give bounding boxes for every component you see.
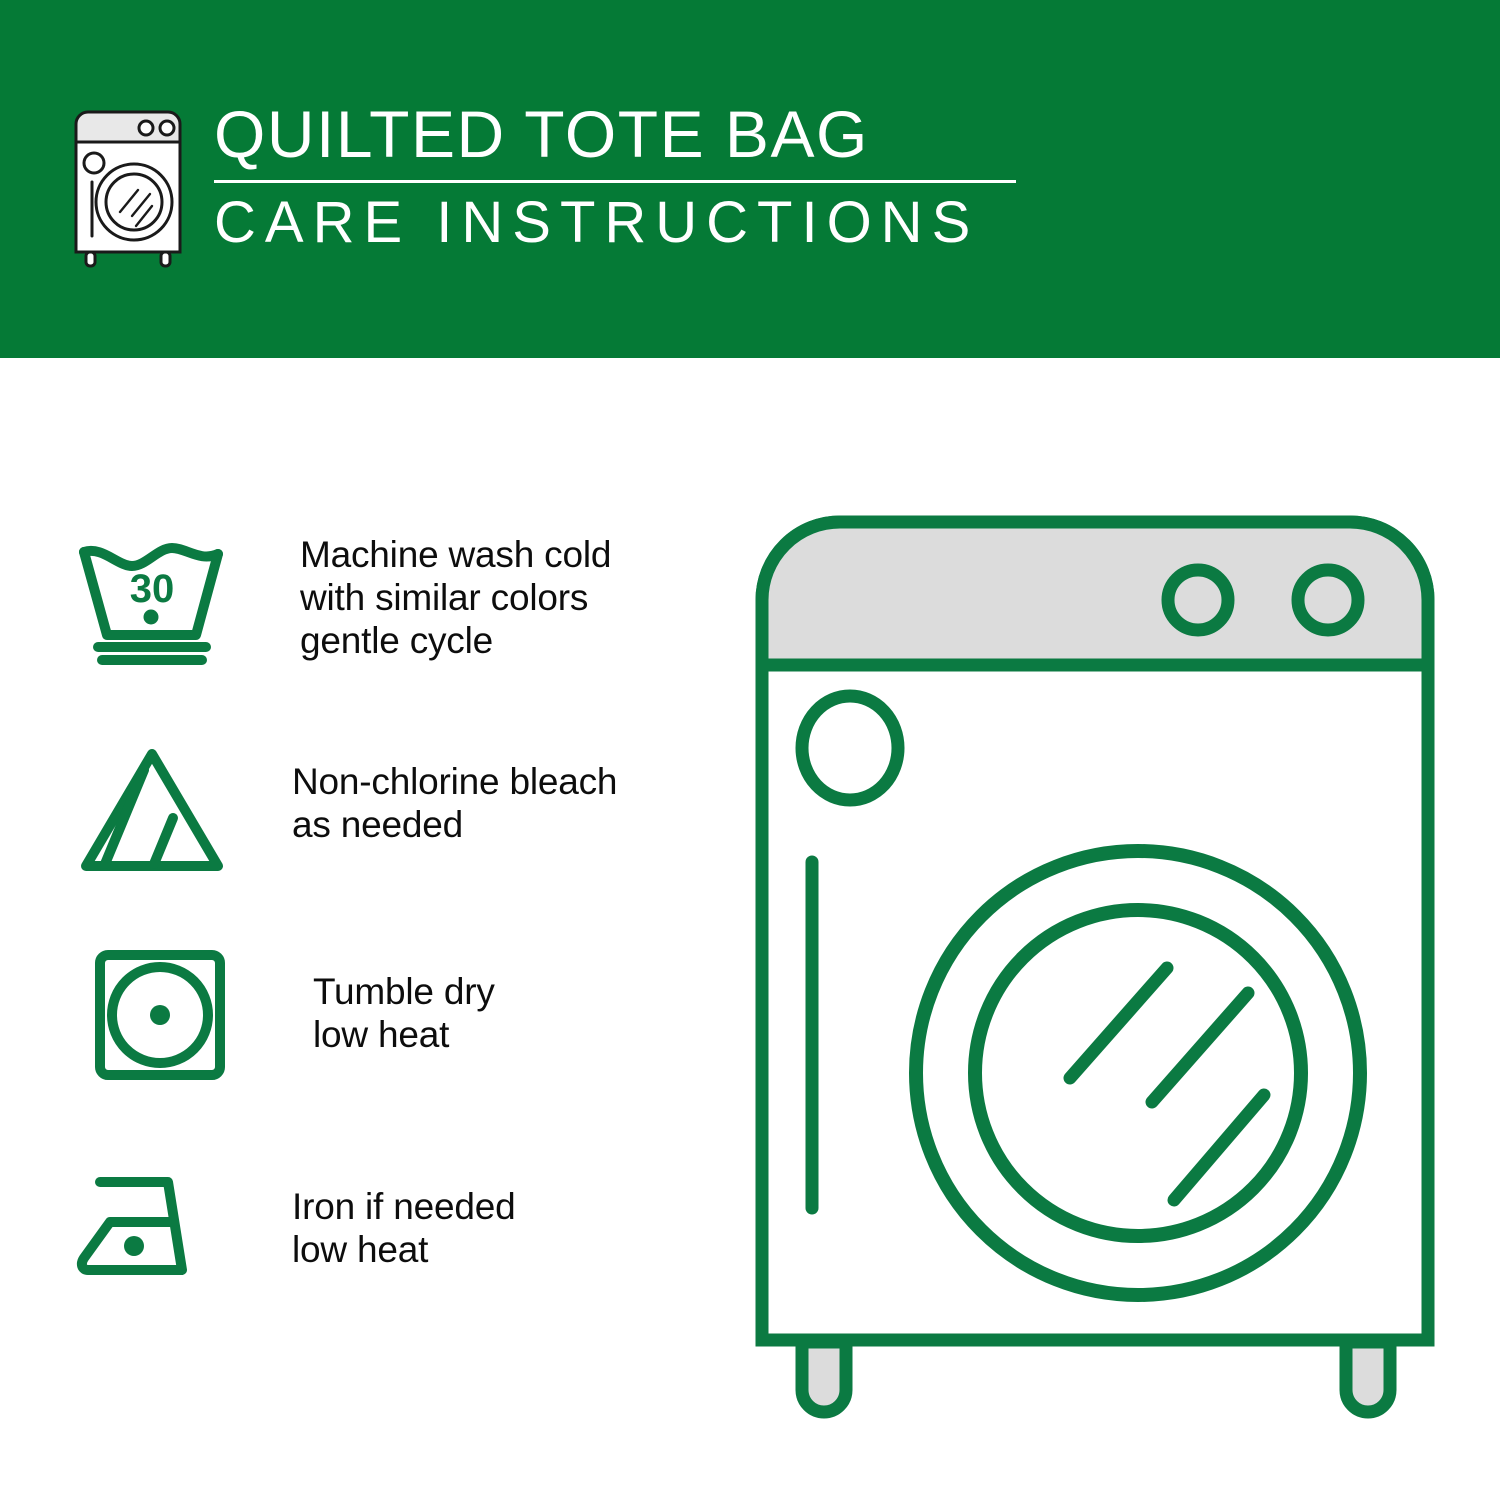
care-instructions-page: QUILTED TOTE BAG CARE INSTRUCTIONS 30 [0, 0, 1500, 1500]
care-line: low heat [313, 1013, 712, 1056]
wash-temperature-value: 30 [130, 567, 175, 611]
header-band: QUILTED TOTE BAG CARE INSTRUCTIONS [0, 0, 1500, 358]
care-line: Tumble dry [313, 970, 712, 1013]
care-instructions-list: 30 Machine wash cold with similar colors… [72, 515, 712, 1375]
iron-low-heat-icon [72, 1160, 247, 1290]
non-chlorine-bleach-triangle-icon [72, 730, 247, 880]
care-row-bleach: Non-chlorine bleach as needed [72, 730, 712, 945]
page-title: QUILTED TOTE BAG [214, 98, 1094, 170]
care-text-bleach: Non-chlorine bleach as needed [247, 730, 712, 846]
control-panel [762, 522, 1428, 665]
care-line: with similar colors [300, 576, 712, 619]
front-load-washing-machine-illustration [740, 490, 1450, 1420]
care-line: gentle cycle [300, 619, 712, 662]
care-text-iron: Iron if needed low heat [247, 1160, 712, 1271]
washing-machine-icon [62, 106, 194, 268]
care-text-machine-wash: Machine wash cold with similar colors ge… [247, 515, 712, 662]
care-line: low heat [292, 1228, 712, 1271]
leg-left [802, 1342, 846, 1412]
leg-right [1346, 1342, 1390, 1412]
care-row-tumble-dry: Tumble dry low heat [72, 945, 712, 1160]
care-row-machine-wash: 30 Machine wash cold with similar colors… [72, 515, 712, 730]
care-line: Non-chlorine bleach [292, 760, 712, 803]
header-content: QUILTED TOTE BAG CARE INSTRUCTIONS [62, 98, 1022, 278]
care-row-iron: Iron if needed low heat [72, 1160, 712, 1375]
care-line: as needed [292, 803, 712, 846]
care-line: Machine wash cold [300, 533, 712, 576]
care-line: Iron if needed [292, 1185, 712, 1228]
wash-tub-30-icon: 30 [72, 515, 247, 665]
tumble-dry-low-icon [72, 945, 265, 1085]
title-divider [214, 180, 1016, 183]
care-text-tumble-dry: Tumble dry low heat [265, 945, 712, 1056]
page-subtitle: CARE INSTRUCTIONS [214, 191, 1094, 255]
header-title-block: QUILTED TOTE BAG CARE INSTRUCTIONS [214, 98, 1094, 255]
